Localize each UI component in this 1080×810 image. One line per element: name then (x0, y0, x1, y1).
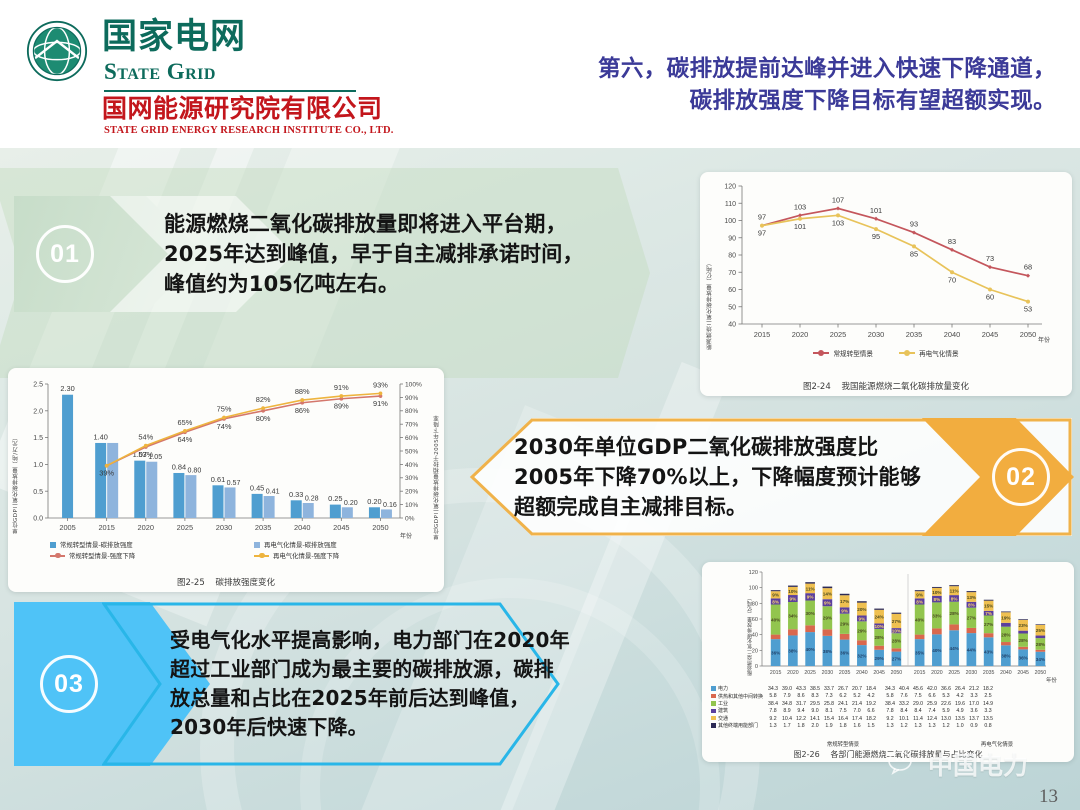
svg-text:0.5: 0.5 (33, 489, 43, 496)
sector-color-swatch (711, 694, 716, 699)
table-cell: 29.5 (808, 701, 822, 708)
svg-text:120: 120 (724, 184, 736, 191)
callout-01-line-3: 峰值约为105亿吨左右。 (164, 269, 584, 299)
table-cell: 5.8 (766, 693, 780, 700)
svg-text:0.41: 0.41 (266, 488, 280, 496)
table-cell: 16.4 (836, 716, 850, 723)
slide-root: 国家电网 State Grid 国网能源研究院有限公司 STATE GRID E… (0, 0, 1080, 810)
svg-text:2015: 2015 (914, 670, 926, 676)
svg-text:20%: 20% (405, 489, 418, 496)
table-cell: 12.4 (925, 716, 939, 723)
svg-text:44%: 44% (967, 647, 976, 652)
table-cell: 25.8 (822, 701, 836, 708)
svg-text:64%: 64% (177, 435, 192, 444)
svg-text:1.0: 1.0 (33, 462, 43, 469)
svg-text:93%: 93% (373, 380, 388, 389)
table-cell: 9.2 (883, 716, 897, 723)
svg-text:80%: 80% (256, 414, 271, 423)
svg-text:82%: 82% (256, 395, 271, 404)
svg-text:0.33: 0.33 (289, 490, 303, 499)
svg-text:14%: 14% (823, 592, 832, 597)
svg-text:0: 0 (755, 664, 758, 670)
svg-text:8%: 8% (772, 599, 779, 604)
svg-text:86%: 86% (295, 406, 310, 415)
svg-text:2020: 2020 (792, 330, 808, 339)
svg-text:0.0: 0.0 (33, 516, 43, 523)
chart-224-legend: 常规转型情景再电气化情景 (700, 348, 1072, 358)
table-cell: 33.7 (822, 686, 836, 693)
svg-text:97: 97 (758, 229, 766, 238)
table-cell: 45.6 (911, 686, 925, 693)
svg-text:90%: 90% (405, 395, 418, 402)
svg-text:50: 50 (728, 304, 736, 311)
table-cell: 5.2 (850, 693, 864, 700)
svg-text:9%: 9% (772, 593, 779, 598)
svg-text:2030: 2030 (966, 670, 978, 676)
table-cell: 26.7 (836, 686, 850, 693)
svg-text:20: 20 (752, 648, 758, 654)
svg-text:2025: 2025 (804, 670, 816, 676)
svg-text:103: 103 (832, 218, 844, 227)
sector-label: 电力 (710, 686, 766, 693)
table-cell: 2.5 (981, 693, 995, 700)
svg-text:9%: 9% (807, 595, 814, 600)
table-cell: 3.3 (981, 708, 995, 715)
table-cell: 43.3 (794, 686, 808, 693)
chart-224-caption-text: 我国能源燃烧二氧化碳排放量变化 (842, 382, 970, 392)
table-cell: 1.7 (780, 723, 794, 730)
chart-225-legend-item: 常规转型情景-强度下降 (22, 551, 226, 560)
table-cell: 1.3 (766, 723, 780, 730)
svg-text:2035: 2035 (839, 670, 851, 676)
svg-text:53: 53 (1024, 305, 1032, 314)
table-row: 交通9.210.412.214.115.416.417.418.29.210.1… (710, 716, 995, 723)
svg-text:2050: 2050 (1020, 330, 1036, 339)
wechat-watermark: 中国电力 (888, 746, 1028, 782)
svg-text:101: 101 (870, 206, 882, 215)
svg-text:8%: 8% (968, 603, 975, 608)
svg-text:35%: 35% (915, 650, 924, 655)
svg-text:0.61: 0.61 (211, 475, 225, 484)
svg-text:40%: 40% (932, 648, 941, 653)
svg-text:40%: 40% (915, 617, 924, 622)
svg-text:28%: 28% (1001, 632, 1010, 637)
svg-text:2015: 2015 (770, 670, 782, 676)
table-cell: 1.3 (883, 723, 897, 730)
svg-text:38%: 38% (788, 649, 797, 654)
chart-224-plot: 4050607080901001101202015202020252030203… (700, 172, 1072, 372)
table-cell: 18.2 (981, 686, 995, 693)
table-cell: 10.1 (897, 716, 911, 723)
table-cell: 4.9 (953, 708, 967, 715)
table-cell: 7.5 (911, 693, 925, 700)
table-cell: 6.2 (836, 693, 850, 700)
legend-square-swatch (254, 542, 260, 548)
svg-text:15%: 15% (984, 604, 993, 609)
brand-name-cn: 国家电网 (102, 20, 246, 55)
svg-text:0.25: 0.25 (328, 494, 342, 503)
svg-text:0.57: 0.57 (227, 479, 241, 487)
svg-text:10%: 10% (405, 502, 418, 509)
svg-text:89%: 89% (334, 402, 349, 411)
table-cell: 1.8 (794, 723, 808, 730)
callout-01-text: 能源燃烧二氧化碳排放量即将进入平台期， 2025年达到峰值，早于自主减排承诺时间… (164, 209, 584, 300)
svg-text:17%: 17% (840, 599, 849, 604)
table-cell: 18.2 (864, 716, 878, 723)
table-cell: 8.6 (794, 693, 808, 700)
svg-text:85: 85 (910, 249, 918, 258)
table-cell: 33.2 (897, 701, 911, 708)
legend-line-swatch (813, 352, 829, 354)
svg-text:2030: 2030 (822, 670, 834, 676)
table-cell: 38.4 (766, 701, 780, 708)
sector-color-swatch (711, 701, 716, 706)
svg-text:0.45: 0.45 (250, 483, 264, 492)
table-cell: 39.0 (780, 686, 794, 693)
callout-03-line-1: 受电气化水平提高影响，电力部门在2020年 (170, 626, 570, 655)
legend-square-swatch (50, 542, 56, 548)
chart-226-caption-no: 图2-26 (794, 750, 820, 759)
svg-text:8%: 8% (934, 597, 941, 602)
svg-text:0%: 0% (405, 515, 415, 522)
table-cell: 21.2 (967, 686, 981, 693)
slide-title-line1: 第六，碳排放提前达峰并进入快速下降通道， (598, 56, 1056, 82)
table-cell: 40.4 (897, 686, 911, 693)
table-cell: 20.7 (850, 686, 864, 693)
table-cell: 6.6 (864, 708, 878, 715)
chart-figure-2-25[interactable]: 单位GDP二氧化碳排放量（吨/万元） 单位GDP二氧化碳排放量相较于2005年下… (8, 368, 444, 592)
svg-text:70: 70 (948, 275, 956, 284)
svg-text:80: 80 (752, 601, 758, 607)
svg-text:60: 60 (728, 287, 736, 294)
chart-225-legend: 常规转型情景-碳排放强度再电气化情景-碳排放强度常规转型情景-强度下降再电气化情… (22, 540, 430, 562)
callout-01-line-2: 2025年达到峰值，早于自主减排承诺时间， (164, 239, 584, 269)
slide-title: 第六，碳排放提前达峰并进入快速下降通道， 碳排放强度下降目标有望超额实现。 (456, 54, 1056, 118)
svg-text:93: 93 (910, 220, 918, 229)
wechat-icon (888, 750, 922, 778)
table-cell: 7.9 (780, 693, 794, 700)
svg-text:91%: 91% (373, 399, 388, 408)
table-cell: 9.4 (794, 708, 808, 715)
callout-01-number: 01 (36, 225, 94, 283)
svg-text:29%: 29% (875, 656, 884, 661)
svg-text:2020: 2020 (931, 670, 943, 676)
svg-text:65%: 65% (177, 418, 192, 427)
callout-03-line-4: 2030年后快速下降。 (170, 713, 570, 742)
callout-01-badge: 01 (36, 225, 94, 283)
svg-text:38%: 38% (1001, 654, 1010, 659)
svg-text:40%: 40% (405, 462, 418, 469)
chart-224-caption-no: 图2-24 (803, 382, 831, 392)
svg-text:10%: 10% (892, 629, 901, 634)
table-cell: 26.4 (953, 686, 967, 693)
legend-label: 常规转型情景-碳排放强度 (60, 540, 133, 549)
svg-text:2040: 2040 (294, 523, 310, 532)
svg-text:2030: 2030 (216, 523, 232, 532)
table-cell: 7.8 (883, 708, 897, 715)
sector-label: 交通 (710, 716, 766, 723)
svg-text:2040: 2040 (944, 330, 960, 339)
svg-text:2035: 2035 (255, 523, 271, 532)
chart-224-legend-item: 再电气化情景 (899, 348, 959, 358)
callout-03-badge: 03 (40, 655, 98, 713)
state-grid-globe-icon (26, 20, 88, 82)
table-cell: 1.3 (911, 723, 925, 730)
chart-225-legend-row: 常规转型情景-强度下降再电气化情景-强度下降 (22, 551, 430, 560)
table-cell: 34.3 (883, 686, 897, 693)
sector-color-swatch (711, 709, 716, 714)
chart-225-legend-row: 常规转型情景-碳排放强度再电气化情景-碳排放强度 (22, 540, 430, 549)
svg-text:2040: 2040 (1000, 670, 1012, 676)
table-cell: 14.9 (981, 701, 995, 708)
svg-text:2020: 2020 (787, 670, 799, 676)
table-cell: 8.3 (808, 693, 822, 700)
callout-02[interactable]: 02 2030年单位GDP二氧化碳排放强度比 2005年下降70%以上，下降幅度… (452, 418, 1072, 536)
callout-02-text: 2030年单位GDP二氧化碳排放强度比 2005年下降70%以上，下降幅度预计能… (514, 432, 921, 523)
table-cell: 2.0 (808, 723, 822, 730)
svg-text:103: 103 (794, 202, 806, 211)
svg-text:36%: 36% (1019, 656, 1028, 661)
svg-text:29%: 29% (857, 629, 866, 634)
svg-text:40: 40 (752, 633, 758, 639)
table-cell: 17.4 (850, 716, 864, 723)
org-name-cn: 国网能源研究院有限公司 (102, 96, 383, 121)
sector-label: 其他终端用能部门 (710, 723, 766, 730)
svg-text:0.20: 0.20 (367, 497, 381, 506)
chart-225-legend-item: 常规转型情景-碳排放强度 (22, 540, 226, 549)
chart-225-legend-item: 再电气化情景-碳排放强度 (226, 540, 430, 549)
svg-text:0.20: 0.20 (344, 499, 358, 507)
svg-text:9%: 9% (790, 596, 797, 601)
chart-225-caption-no: 图2-25 (177, 578, 205, 588)
table-cell: 3.3 (967, 693, 981, 700)
svg-text:34%: 34% (1036, 657, 1045, 662)
callout-02-number: 02 (992, 448, 1050, 506)
svg-text:2015: 2015 (98, 523, 114, 532)
svg-text:0.84: 0.84 (172, 462, 186, 471)
table-cell: 7.8 (766, 708, 780, 715)
chart-226-data-table: 电力34.339.043.338.533.726.720.718.434.340… (710, 686, 995, 730)
chart-224-caption: 图2-24 我国能源燃烧二氧化碳排放量变化 (700, 380, 1072, 392)
svg-text:74%: 74% (217, 422, 232, 431)
table-cell: 8.4 (897, 708, 911, 715)
table-cell: 3.6 (967, 708, 981, 715)
sector-color-swatch (711, 686, 716, 691)
svg-text:9%: 9% (859, 616, 866, 621)
legend-label: 再电气化情景 (919, 348, 959, 358)
svg-text:28%: 28% (1036, 642, 1045, 647)
slide-header: 国家电网 State Grid 国网能源研究院有限公司 STATE GRID E… (0, 0, 1080, 148)
svg-text:10%: 10% (875, 624, 884, 629)
svg-text:2035: 2035 (983, 670, 995, 676)
callout-03-line-3: 放总量和占比在2025年前后达到峰值， (170, 684, 570, 713)
svg-text:2.5: 2.5 (33, 382, 43, 389)
callout-03-text: 受电气化水平提高影响，电力部门在2020年 超过工业部门成为最主要的碳排放源，碳… (170, 626, 570, 741)
svg-text:2025: 2025 (830, 330, 846, 339)
table-cell: 6.6 (925, 693, 939, 700)
callout-02-line-3: 超额完成自主减排目标。 (514, 492, 921, 522)
legend-label: 再电气化情景-强度下降 (273, 551, 339, 560)
brand-name-en: State Grid (104, 60, 216, 83)
watermark-text: 中国电力 (928, 746, 1028, 782)
callout-01[interactable]: 01 能源燃烧二氧化碳排放量即将进入平台期， 2025年达到峰值，早于自主减排承… (14, 196, 534, 312)
table-cell: 13.0 (939, 716, 953, 723)
chart-225-legend-item: 再电气化情景-强度下降 (226, 551, 430, 560)
svg-text:40: 40 (728, 322, 736, 329)
table-cell: 9.0 (808, 708, 822, 715)
svg-text:40%: 40% (806, 647, 815, 652)
chart-224-x-axis-unit: 年份 (1038, 335, 1050, 344)
table-cell: 19.6 (953, 701, 967, 708)
legend-label: 常规转型情景-强度下降 (69, 551, 135, 560)
table-cell: 4.2 (864, 693, 878, 700)
chart-225-caption-text: 碳排放强度变化 (216, 578, 276, 588)
page-number: 13 (1039, 786, 1058, 808)
svg-text:36%: 36% (840, 651, 849, 656)
svg-text:2040: 2040 (856, 670, 868, 676)
table-cell: 7.4 (925, 708, 939, 715)
svg-text:2035: 2035 (906, 330, 922, 339)
svg-text:28%: 28% (892, 639, 901, 644)
svg-text:2025: 2025 (177, 523, 193, 532)
chart-225-x-axis-unit: 年份 (400, 531, 412, 540)
chart-225-plot: 0.00.51.01.52.02.50%10%20%30%40%50%60%70… (8, 368, 444, 558)
svg-text:50%: 50% (405, 448, 418, 455)
svg-text:40%: 40% (771, 617, 780, 622)
svg-text:2030: 2030 (868, 330, 884, 339)
table-cell: 0.8 (981, 723, 995, 730)
table-cell: 7.5 (836, 708, 850, 715)
svg-text:13%: 13% (967, 595, 976, 600)
table-cell: 8.1 (822, 708, 836, 715)
table-cell: 5.3 (939, 693, 953, 700)
svg-text:101: 101 (794, 222, 806, 231)
table-cell: 14.1 (808, 716, 822, 723)
svg-text:60: 60 (752, 617, 758, 623)
svg-text:2050: 2050 (1035, 670, 1047, 676)
table-cell: 34.8 (780, 701, 794, 708)
svg-text:2025: 2025 (948, 670, 960, 676)
svg-text:2045: 2045 (333, 523, 349, 532)
callout-02-line-1: 2030年单位GDP二氧化碳排放强度比 (514, 432, 921, 462)
svg-text:2005: 2005 (59, 523, 75, 532)
table-cell: 8.9 (780, 708, 794, 715)
table-row: 供热和其他中间转换5.87.98.68.37.36.25.24.25.87.67… (710, 693, 995, 700)
svg-text:0.80: 0.80 (187, 467, 201, 475)
svg-text:54%: 54% (138, 433, 153, 442)
svg-text:2050: 2050 (891, 670, 903, 676)
table-cell: 1.9 (822, 723, 836, 730)
table-cell: 1.5 (864, 723, 878, 730)
svg-text:34%: 34% (788, 614, 797, 619)
svg-text:27%: 27% (967, 616, 976, 621)
svg-text:28%: 28% (875, 635, 884, 640)
table-cell: 7.0 (850, 708, 864, 715)
svg-text:107: 107 (832, 195, 844, 204)
callout-03-number: 03 (40, 655, 98, 713)
table-cell: 24.1 (836, 701, 850, 708)
svg-text:20%: 20% (857, 607, 866, 612)
table-cell: 18.4 (864, 686, 878, 693)
table-cell: 22.6 (939, 701, 953, 708)
table-cell: 1.6 (850, 723, 864, 730)
table-cell: 5.8 (883, 693, 897, 700)
svg-text:100: 100 (724, 218, 736, 225)
table-cell: 13.5 (953, 716, 967, 723)
svg-text:29%: 29% (840, 622, 849, 627)
table-cell: 7.6 (897, 693, 911, 700)
svg-text:44%: 44% (950, 646, 959, 651)
table-cell: 4.2 (953, 693, 967, 700)
svg-text:33%: 33% (932, 613, 941, 618)
legend-line-swatch (254, 555, 269, 557)
table-cell: 8.4 (911, 708, 925, 715)
sector-color-swatch (711, 723, 716, 728)
svg-text:10%: 10% (932, 590, 941, 595)
svg-text:53%: 53% (138, 450, 153, 459)
svg-text:10%: 10% (788, 589, 797, 594)
chart-224-legend-item: 常规转型情景 (813, 348, 873, 358)
svg-text:27%: 27% (892, 657, 901, 662)
org-name-en: STATE GRID ENERGY RESEARCH INSTITUTE CO.… (104, 126, 394, 137)
brand-logo: 国家电网 State Grid 国网能源研究院有限公司 STATE GRID E… (26, 14, 436, 136)
table-cell: 11.4 (911, 716, 925, 723)
svg-text:100: 100 (749, 586, 758, 592)
table-cell: 10.4 (780, 716, 794, 723)
table-cell: 0.9 (967, 723, 981, 730)
table-cell: 17.0 (967, 701, 981, 708)
sector-color-swatch (711, 716, 716, 721)
svg-text:2015: 2015 (754, 330, 770, 339)
svg-text:90: 90 (728, 235, 736, 242)
svg-text:70: 70 (728, 270, 736, 277)
table-cell: 5.9 (939, 708, 953, 715)
svg-text:11%: 11% (806, 586, 815, 591)
table-cell: 9.2 (766, 716, 780, 723)
svg-text:73: 73 (986, 254, 994, 263)
callout-03-line-2: 超过工业部门成为最主要的碳排放源，碳排 (170, 655, 570, 684)
table-cell: 1.8 (836, 723, 850, 730)
table-cell: 36.6 (939, 686, 953, 693)
brand-divider (104, 90, 356, 92)
svg-text:19%: 19% (1001, 615, 1010, 620)
table-row: 电力34.339.043.338.533.726.720.718.434.340… (710, 686, 995, 693)
svg-text:60: 60 (986, 293, 994, 302)
svg-text:9%: 9% (841, 608, 848, 613)
svg-text:91%: 91% (334, 383, 349, 392)
chart-figure-2-26[interactable]: 能源燃烧二氧化碳排放量（亿吨） 02040608010012036%40%8%9… (702, 562, 1074, 762)
table-cell: 1.2 (939, 723, 953, 730)
table-cell: 31.7 (794, 701, 808, 708)
chart-figure-2-24[interactable]: 能源燃烧二氧化碳排放量（亿吨） 405060708090100110120201… (700, 172, 1072, 396)
legend-line-swatch (50, 555, 65, 557)
svg-text:28%: 28% (950, 611, 959, 616)
svg-text:11%: 11% (950, 589, 959, 594)
svg-text:32%: 32% (857, 653, 866, 658)
svg-text:88%: 88% (295, 387, 310, 396)
table-cell: 7.3 (822, 693, 836, 700)
table-cell: 29.0 (911, 701, 925, 708)
table-cell: 25.9 (925, 701, 939, 708)
callout-03[interactable]: 03 受电气化水平提高影响，电力部门在2020年 超过工业部门成为最主要的碳排放… (14, 602, 554, 766)
svg-text:30%: 30% (405, 475, 418, 482)
svg-text:24%: 24% (875, 615, 884, 620)
svg-text:2045: 2045 (1017, 670, 1029, 676)
callout-02-line-2: 2005年下降70%以上，下降幅度预计能够 (514, 462, 921, 492)
svg-text:43%: 43% (984, 650, 993, 655)
svg-text:80: 80 (728, 253, 736, 260)
table-cell: 19.2 (864, 701, 878, 708)
